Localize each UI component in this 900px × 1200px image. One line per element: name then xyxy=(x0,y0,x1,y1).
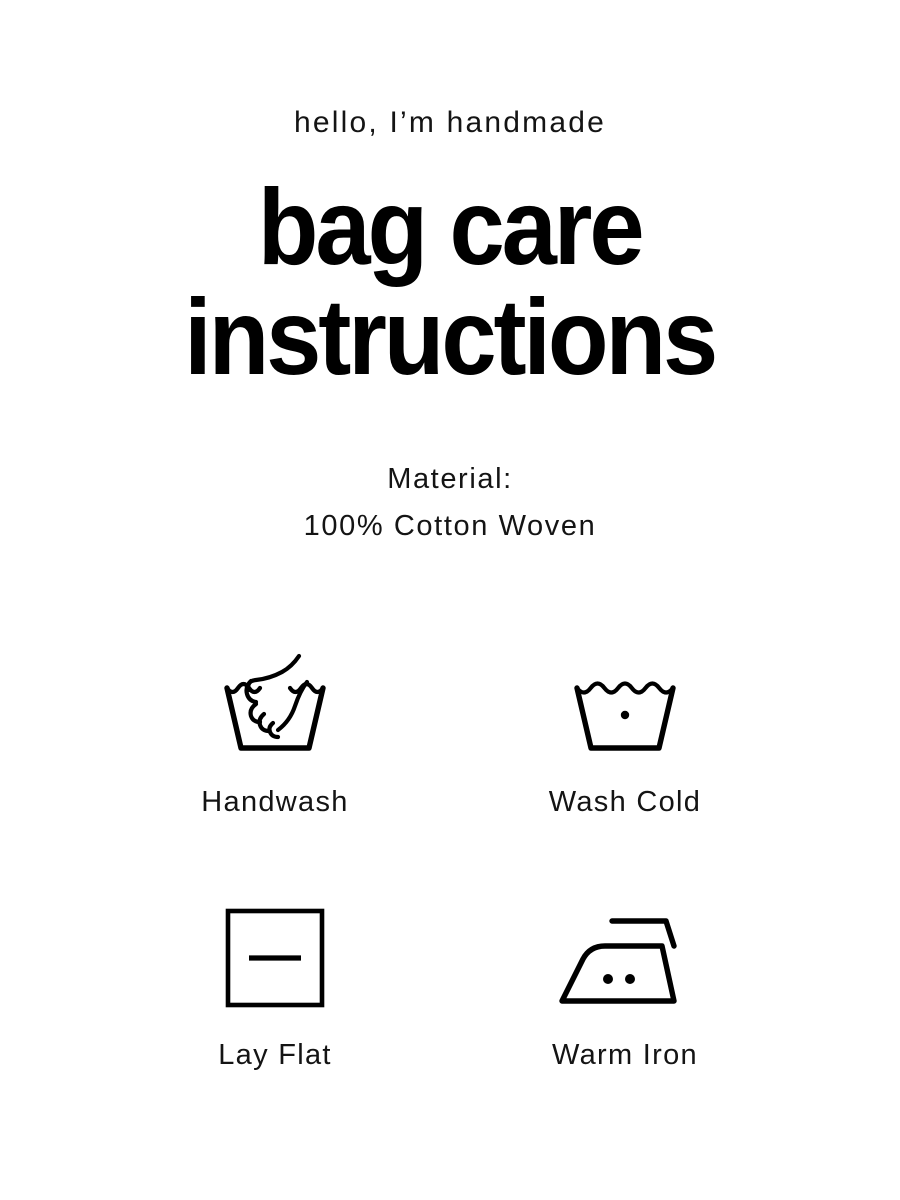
lay-flat-to-dry-square-icon xyxy=(210,895,340,1015)
care-symbol-handwash: Handwash xyxy=(100,642,450,817)
care-symbol-lay-flat: Lay Flat xyxy=(100,895,450,1070)
care-symbol-warm-iron: Warm Iron xyxy=(450,895,800,1070)
handwash-basin-icon xyxy=(210,642,340,762)
care-symbol-warm-iron-label: Warm Iron xyxy=(552,1041,698,1070)
page-title-line-2: instructions xyxy=(184,284,715,390)
wash-cold-basin-one-dot-icon xyxy=(560,642,690,762)
care-symbol-wash-cold-label: Wash Cold xyxy=(549,788,701,817)
material-block: Material: 100% Cotton Woven xyxy=(304,456,597,550)
warm-iron-two-dots-icon xyxy=(550,895,700,1015)
page-title: bag care instructions xyxy=(161,174,738,390)
care-symbol-wash-cold: Wash Cold xyxy=(450,642,800,817)
tagline: hello, I’m handmade xyxy=(294,108,606,138)
care-instructions-card: hello, I’m handmade bag care instruction… xyxy=(0,0,900,1200)
care-symbol-handwash-label: Handwash xyxy=(201,788,348,817)
care-symbol-grid: Handwash Wash Cold Lay Flat xyxy=(100,642,800,1070)
page-title-line-1: bag care xyxy=(184,174,715,280)
care-symbol-lay-flat-label: Lay Flat xyxy=(218,1041,332,1070)
material-label: Material: xyxy=(304,456,597,503)
material-value: 100% Cotton Woven xyxy=(304,503,597,550)
